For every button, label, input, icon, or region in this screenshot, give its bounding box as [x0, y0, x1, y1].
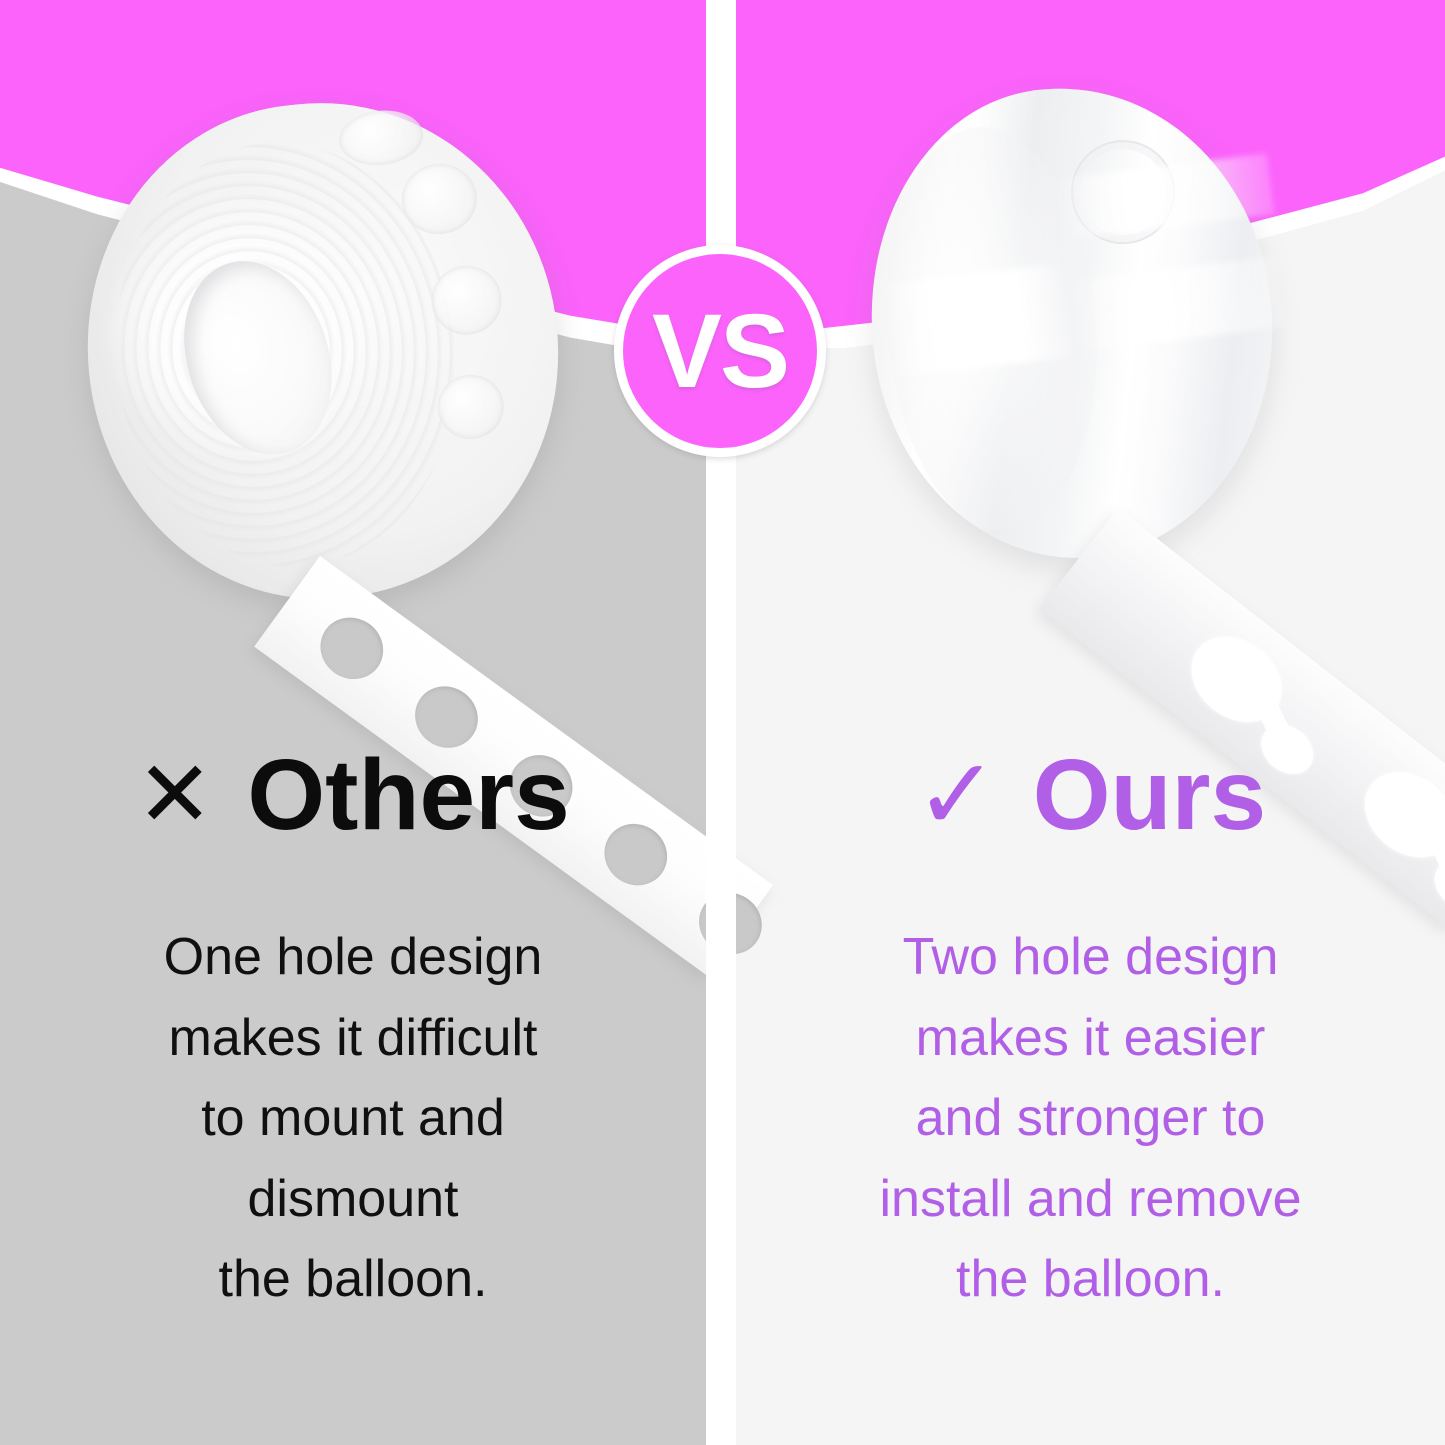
panel-divider: [706, 0, 736, 1445]
ours-description-line: Two hole design: [736, 917, 1445, 998]
ours-heading: ✓ Ours: [736, 745, 1445, 845]
others-column: ✕ Others One hole design makes it diffic…: [0, 745, 706, 1320]
check-icon: ✓: [915, 745, 999, 845]
vs-label: VS: [652, 299, 788, 404]
ours-description-line: install and remove: [736, 1159, 1445, 1240]
ours-description-line: the balloon.: [736, 1239, 1445, 1320]
right-tape-roll-image: [856, 75, 1288, 572]
others-description-line: One hole design: [0, 917, 706, 998]
vs-badge: VS: [614, 245, 826, 457]
cross-icon: ✕: [136, 749, 213, 841]
ours-description: Two hole design makes it easier and stro…: [736, 917, 1445, 1320]
ours-column: ✓ Ours Two hole design makes it easier a…: [736, 745, 1445, 1320]
ours-description-line: makes it easier: [736, 998, 1445, 1079]
ours-heading-label: Ours: [1033, 745, 1266, 845]
others-description-line: the balloon.: [0, 1239, 706, 1320]
others-description-line: to mount and: [0, 1078, 706, 1159]
others-heading: ✕ Others: [0, 745, 706, 845]
single-hole: [308, 605, 395, 691]
others-description-line: dismount: [0, 1159, 706, 1240]
others-description: One hole design makes it difficult to mo…: [0, 917, 706, 1320]
ours-description-line: and stronger to: [736, 1078, 1445, 1159]
others-description-line: makes it difficult: [0, 998, 706, 1079]
left-tape-roll-image: [63, 80, 582, 621]
others-heading-label: Others: [247, 745, 569, 845]
comparison-graphic: VS ✕ Others One hole design makes it dif…: [0, 0, 1445, 1445]
